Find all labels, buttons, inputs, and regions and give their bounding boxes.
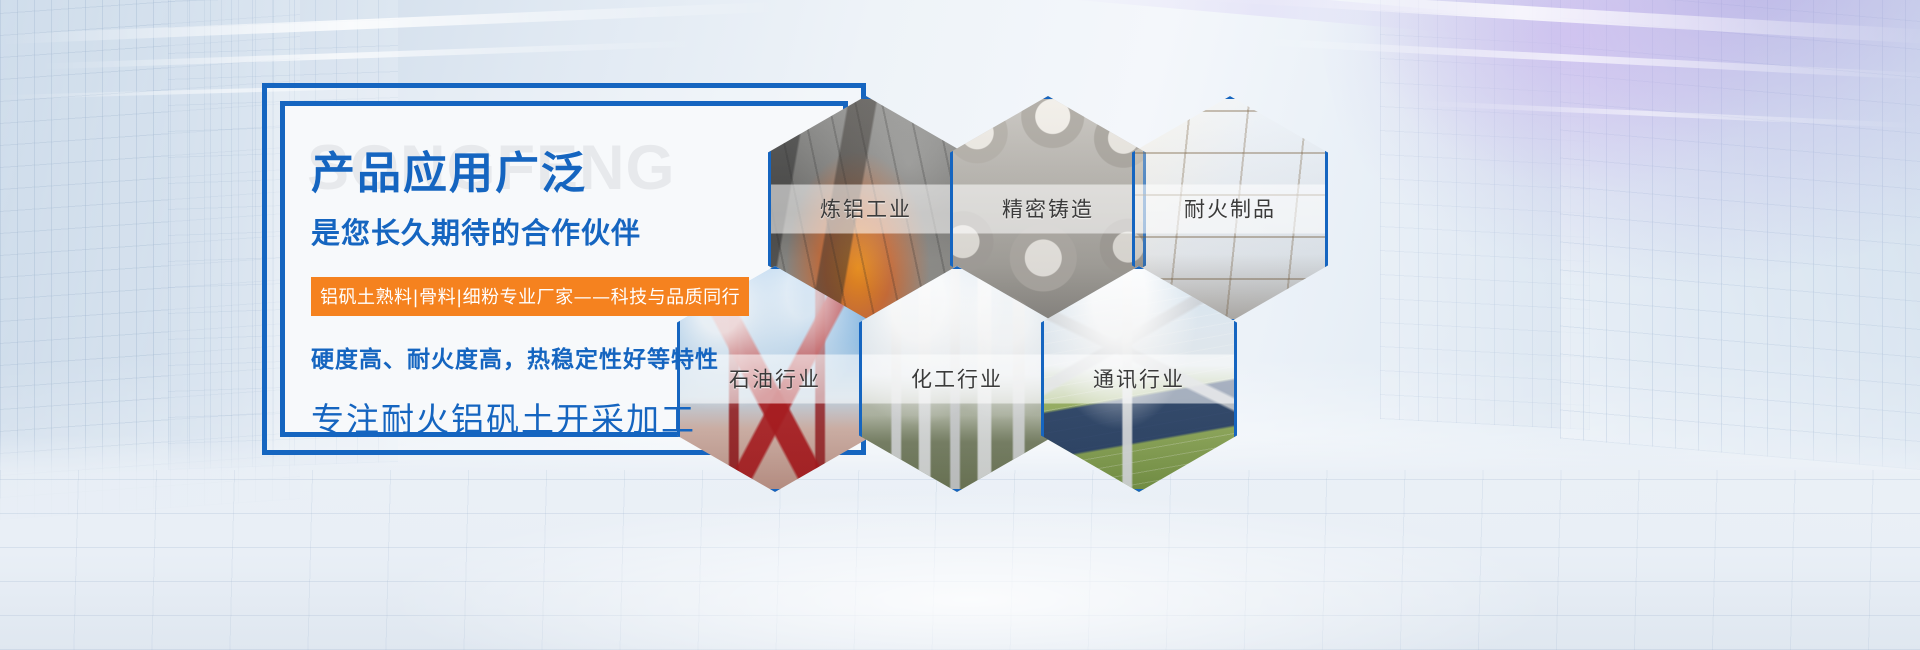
feature-text: 硬度高、耐火度高，热稳定性好等特性: [311, 340, 843, 374]
hexagon-label: 化工行业: [859, 355, 1055, 404]
headline-panel-inner: SONGFENG 产品应用广泛 是您长久期待的合作伙伴 铝矾土熟料|骨料|细粉专…: [280, 101, 848, 437]
hexagon-label: 精密铸造: [950, 185, 1146, 234]
focus-statement: 专注耐火铝矾土开采加工: [311, 393, 843, 437]
highlight-badge: 铝矾土熟料|骨料|细粉专业厂家——科技与品质同行: [311, 277, 749, 316]
page-subtitle: 是您长久期待的合作伙伴: [311, 210, 843, 252]
headline-copy: 产品应用广泛 是您长久期待的合作伙伴 铝矾土熟料|骨料|细粉专业厂家——科技与品…: [285, 106, 843, 437]
headline-panel: SONGFENG 产品应用广泛 是您长久期待的合作伙伴 铝矾土熟料|骨料|细粉专…: [262, 83, 866, 455]
page-title: 产品应用广泛: [311, 152, 843, 196]
hexagon-label: 通讯行业: [1041, 355, 1237, 404]
hexagon-label: 耐火制品: [1132, 185, 1328, 234]
promo-banner: SONGFENG 产品应用广泛 是您长久期待的合作伙伴 铝矾土熟料|骨料|细粉专…: [0, 0, 1920, 650]
